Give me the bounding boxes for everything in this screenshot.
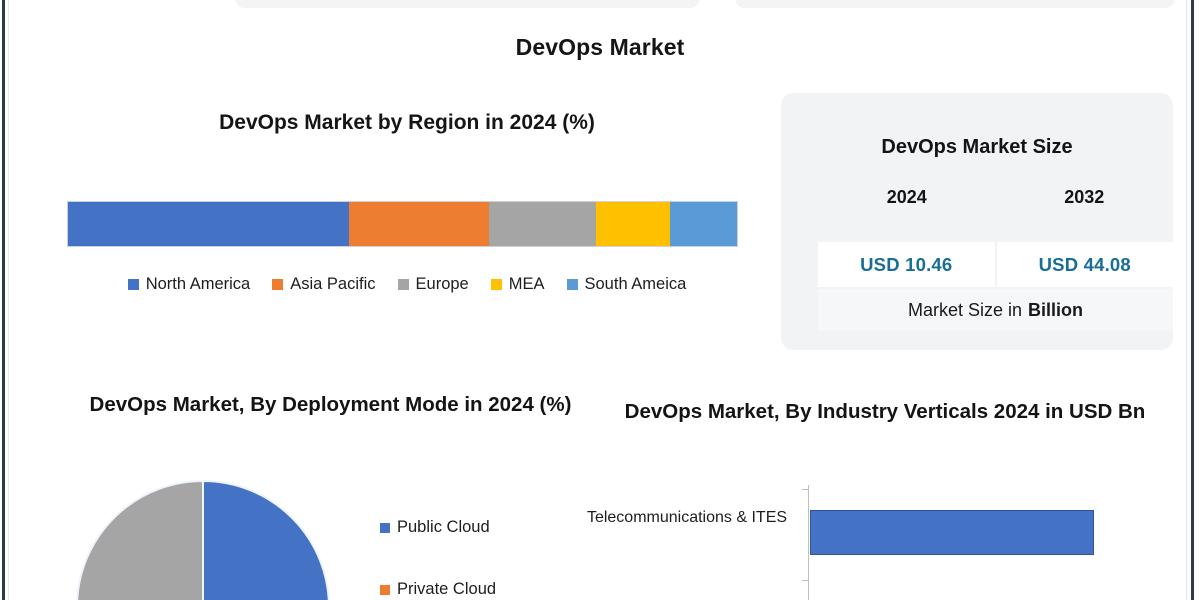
verticals-axis-line <box>808 485 809 600</box>
infographic-canvas: DevOps Market DevOps Market by Region in… <box>0 0 1200 600</box>
legend-label: Private Cloud <box>397 580 496 599</box>
top-card-right <box>735 0 1175 8</box>
market-size-value-end: USD 44.08 <box>997 242 1174 287</box>
deployment-chart-legend: Public CloudPrivate Cloud <box>380 518 570 600</box>
page-border-left <box>2 0 5 600</box>
region-segment <box>68 202 349 246</box>
legend-swatch-icon <box>380 523 390 533</box>
legend-swatch-icon <box>491 279 502 290</box>
market-size-year-end: 2032 <box>996 187 1174 208</box>
top-card-left <box>235 0 700 8</box>
market-size-year-start: 2024 <box>818 187 996 208</box>
market-size-unit-caption: Market Size in Billion <box>818 289 1173 331</box>
deployment-chart-title: DevOps Market, By Deployment Mode in 202… <box>58 391 603 418</box>
pie-slice <box>77 481 203 600</box>
legend-item: Public Cloud <box>380 518 570 537</box>
region-segment <box>596 202 670 246</box>
legend-item: North America <box>128 275 251 294</box>
legend-swatch-icon <box>398 279 409 290</box>
page-border-right <box>1191 0 1194 600</box>
market-size-values: USD 10.46 USD 44.08 <box>818 242 1173 287</box>
legend-swatch-icon <box>567 279 578 290</box>
pie-slice <box>203 481 329 600</box>
market-size-years: 2024 2032 <box>818 187 1173 208</box>
legend-item: South Ameica <box>567 275 687 294</box>
legend-label: MEA <box>509 275 545 294</box>
legend-label: Asia Pacific <box>290 275 375 294</box>
region-segment <box>489 202 596 246</box>
verticals-axis-tick <box>802 580 808 581</box>
page-border-right-inner <box>1186 0 1187 600</box>
market-size-unit-value: Billion <box>1028 300 1083 321</box>
market-size-panel: DevOps Market Size 2024 2032 USD 10.46 U… <box>781 93 1173 350</box>
legend-label: Europe <box>416 275 469 294</box>
legend-item: Europe <box>398 275 469 294</box>
legend-item: MEA <box>491 275 545 294</box>
legend-swatch-icon <box>272 279 283 290</box>
deployment-pie-svg <box>76 480 331 600</box>
legend-label: North America <box>146 275 251 294</box>
region-stacked-bar <box>68 202 737 246</box>
verticals-bar <box>811 511 1093 554</box>
verticals-chart-title: DevOps Market, By Industry Verticals 202… <box>600 398 1170 425</box>
page-border-left-inner <box>8 0 9 600</box>
legend-item: Asia Pacific <box>272 275 375 294</box>
legend-swatch-icon <box>128 279 139 290</box>
legend-swatch-icon <box>380 585 390 595</box>
legend-label: South Ameica <box>585 275 687 294</box>
verticals-bar-chart: Telecommunications & ITES <box>580 485 1180 600</box>
region-chart-legend: North AmericaAsia PacificEuropeMEASouth … <box>62 275 752 294</box>
market-size-value-start: USD 10.46 <box>818 242 995 287</box>
legend-item: Private Cloud <box>380 580 570 599</box>
verticals-category-label: Telecommunications & ITES <box>580 508 794 529</box>
region-segment <box>670 202 737 246</box>
verticals-axis-tick <box>802 489 808 490</box>
deployment-pie-chart <box>76 480 331 600</box>
region-segment <box>349 202 489 246</box>
market-size-title: DevOps Market Size <box>781 136 1173 159</box>
market-size-unit-prefix: Market Size in <box>908 300 1022 321</box>
legend-label: Public Cloud <box>397 518 490 537</box>
page-title: DevOps Market <box>0 34 1200 61</box>
region-chart-title: DevOps Market by Region in 2024 (%) <box>62 111 752 135</box>
